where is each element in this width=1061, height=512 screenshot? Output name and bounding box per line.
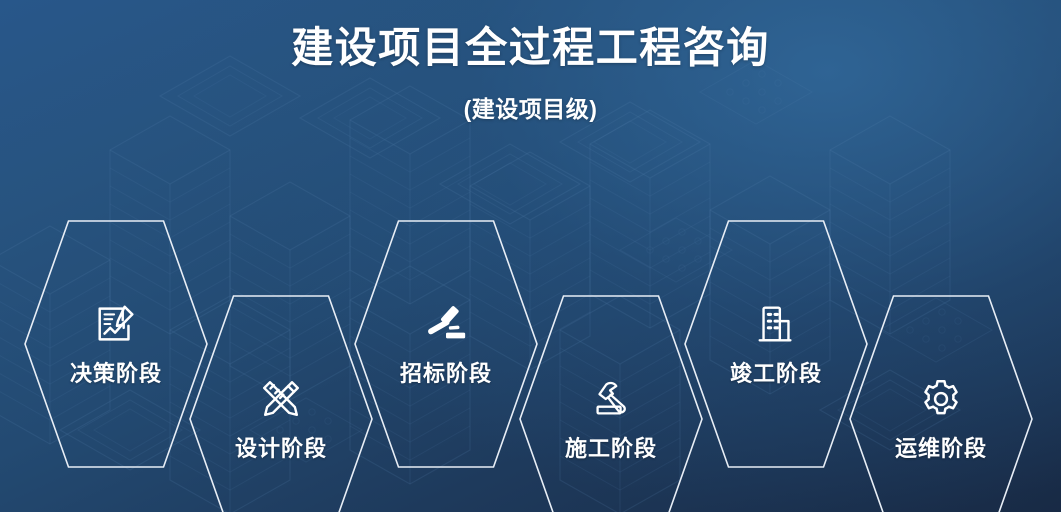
stage-hexagon-decision[interactable]: 决策阶段 <box>21 217 211 471</box>
pencil-ruler-icon <box>258 376 304 422</box>
slide-canvas: 建设项目全过程工程咨询 (建设项目级) 决策阶段 <box>0 0 1061 512</box>
stage-label: 招标阶段 <box>400 361 492 387</box>
stage-label: 决策阶段 <box>70 361 162 387</box>
stage-hexagon-design[interactable]: 设计阶段 <box>186 292 376 512</box>
stage-hexagon-bidding[interactable]: 招标阶段 <box>351 217 541 471</box>
title-block: 建设项目全过程工程咨询 (建设项目级) <box>0 0 1061 124</box>
stage-label: 运维阶段 <box>895 436 987 462</box>
building-icon <box>753 301 799 347</box>
stage-hexagon-operations[interactable]: 运维阶段 <box>846 292 1036 512</box>
gear-icon <box>918 376 964 422</box>
gavel-icon <box>423 301 469 347</box>
stage-hexagon-construction[interactable]: 施工阶段 <box>516 292 706 512</box>
stage-label: 设计阶段 <box>235 436 327 462</box>
page-subtitle: (建设项目级) <box>0 94 1061 124</box>
stage-label: 竣工阶段 <box>730 361 822 387</box>
stage-label: 施工阶段 <box>565 436 657 462</box>
stage-hexagon-completion[interactable]: 竣工阶段 <box>681 217 871 471</box>
hammer-brick-icon <box>588 376 634 422</box>
page-title: 建设项目全过程工程咨询 <box>0 22 1061 74</box>
report-chart-pencil-icon <box>93 301 139 347</box>
